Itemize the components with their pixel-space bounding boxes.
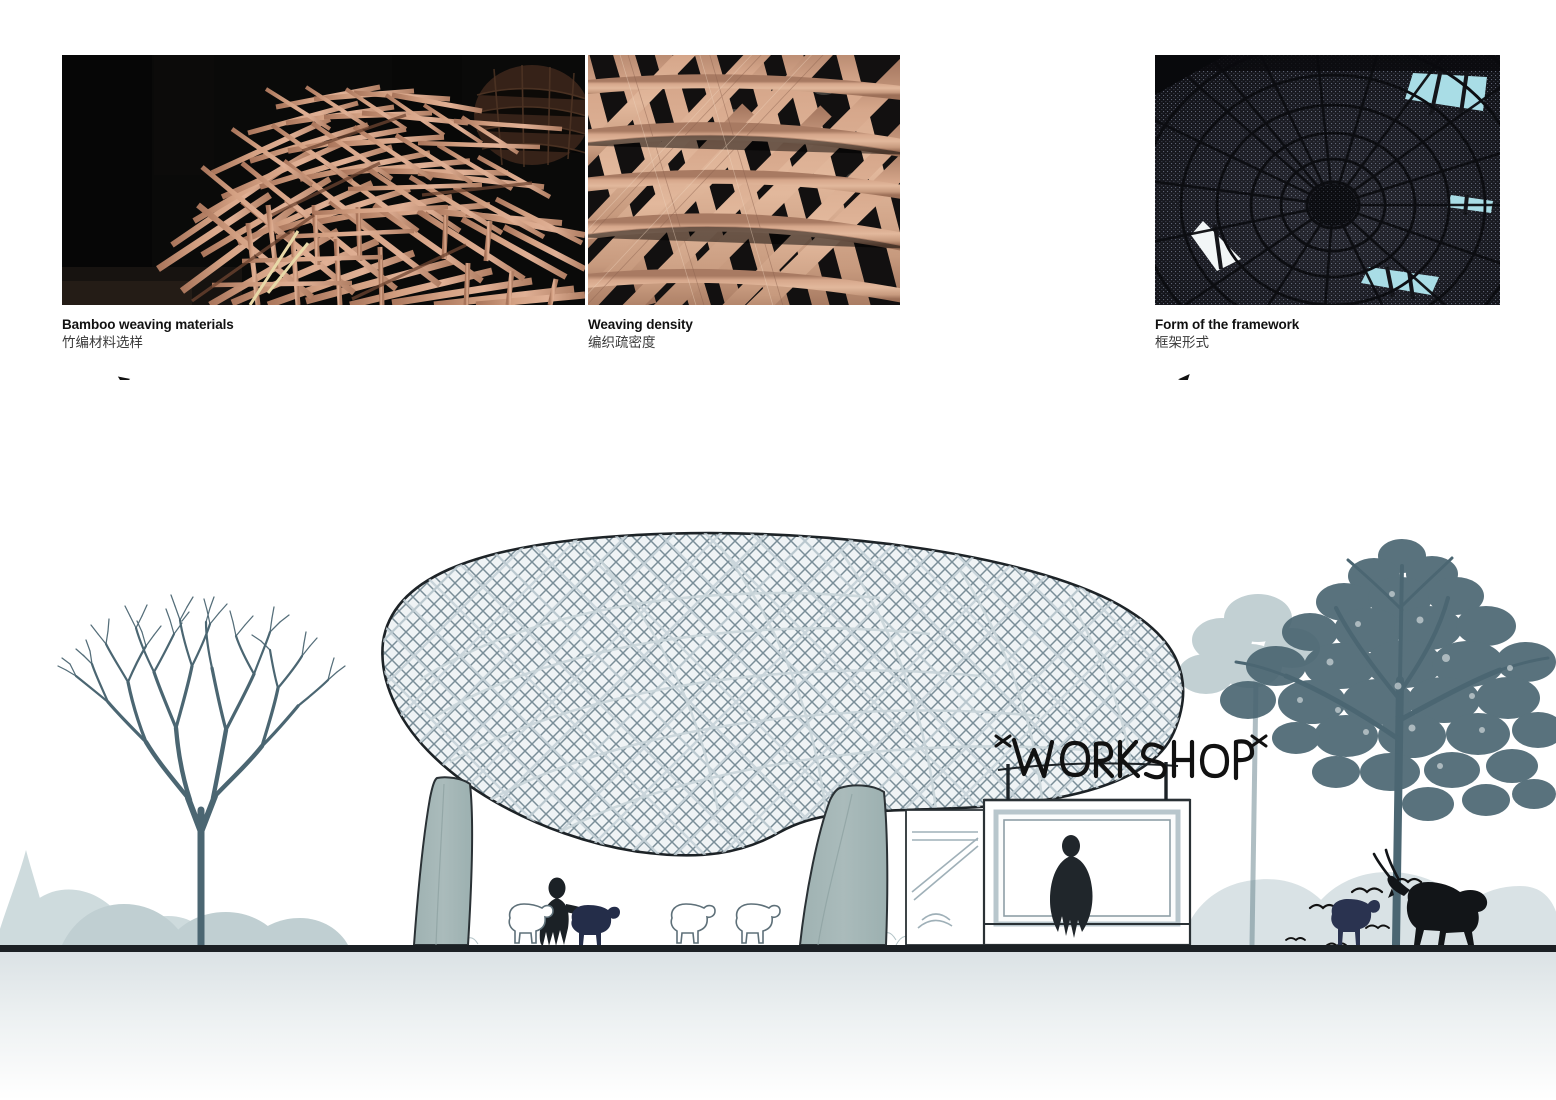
photo-framework-form (1155, 55, 1500, 305)
background-vegetation (0, 850, 1556, 945)
photo-bamboo-materials (62, 55, 585, 305)
caption-framework-form: Form of the framework 框架形式 (1155, 316, 1299, 353)
photo-weaving-density (588, 55, 900, 305)
elevation-svg (0, 380, 1556, 1100)
caption-bamboo-materials: Bamboo weaving materials 竹编材料选样 (62, 316, 234, 353)
sheep-dark-centre (571, 905, 620, 945)
caption-en-3: Form of the framework (1155, 316, 1299, 333)
weaving-density-illustration (588, 55, 900, 305)
bamboo-pile-illustration (62, 55, 585, 305)
presentation-board: Bamboo weaving materials 竹编材料选样 (0, 0, 1556, 1100)
caption-en-2: Weaving density (588, 316, 693, 333)
ground-line (0, 945, 1556, 952)
foreground-plane (0, 952, 1556, 1100)
dome-framework-illustration (1155, 55, 1500, 305)
caption-weaving-density: Weaving density 编织疏密度 (588, 316, 693, 353)
sheep-outline-3 (736, 904, 780, 943)
caption-zh-3: 框架形式 (1155, 333, 1299, 353)
elevation-drawing (0, 380, 1556, 1100)
sheep-outline-2 (671, 904, 715, 943)
workshop-building (906, 800, 1190, 945)
caption-en-1: Bamboo weaving materials (62, 316, 234, 333)
caption-zh-2: 编织疏密度 (588, 333, 693, 353)
caption-zh-1: 竹编材料选样 (62, 333, 234, 353)
tree-bare-left (58, 595, 345, 945)
support-leg-left (414, 777, 472, 945)
